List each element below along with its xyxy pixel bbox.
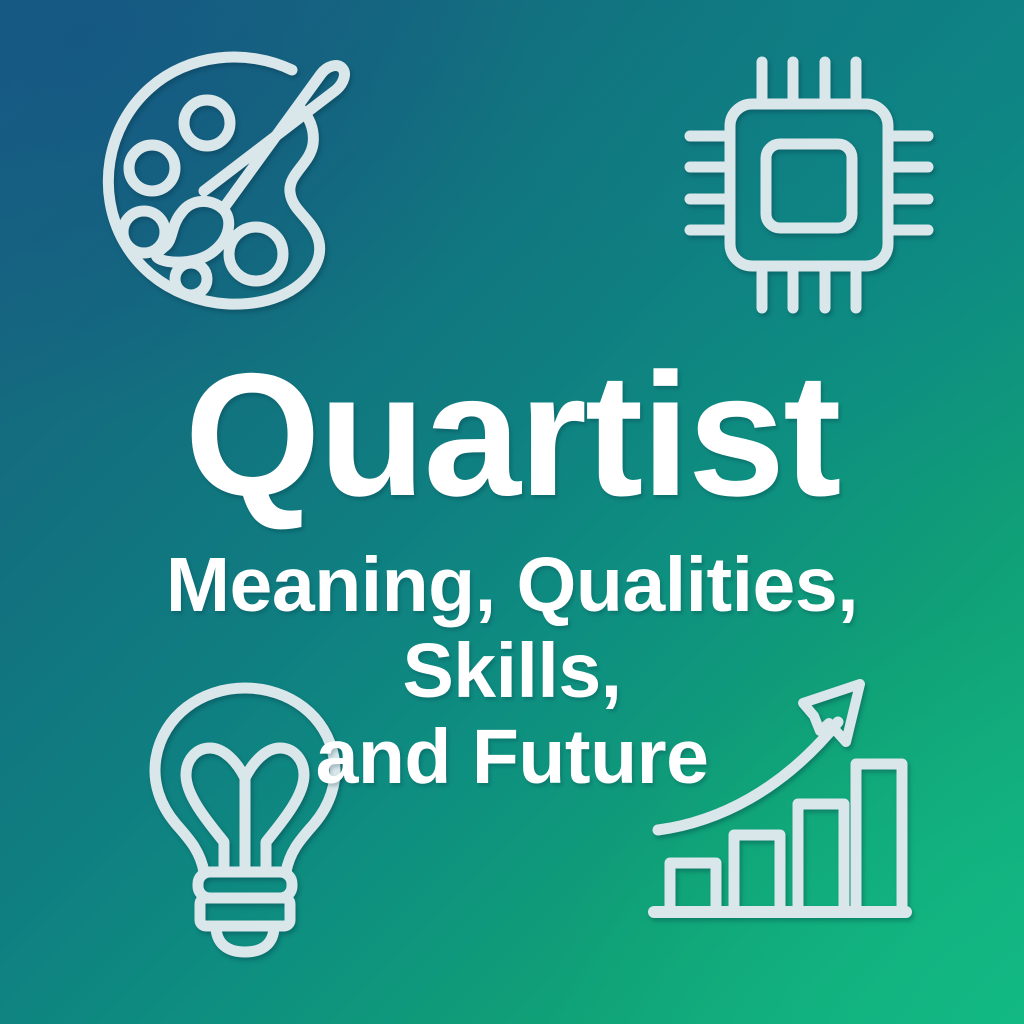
artist-palette-icon bbox=[96, 52, 358, 310]
page-subtitle: Meaning, Qualities, Skills, and Future bbox=[112, 542, 912, 801]
poster-canvas: Quartist Meaning, Qualities, Skills, and… bbox=[0, 0, 1024, 1024]
page-title: Quartist bbox=[40, 352, 984, 520]
microchip-icon bbox=[686, 56, 930, 314]
subtitle-line-1: Meaning, Qualities, Skills, bbox=[166, 542, 858, 714]
subtitle-line-2: and Future bbox=[316, 714, 709, 800]
poster-text-block: Quartist Meaning, Qualities, Skills, and… bbox=[0, 352, 1024, 801]
